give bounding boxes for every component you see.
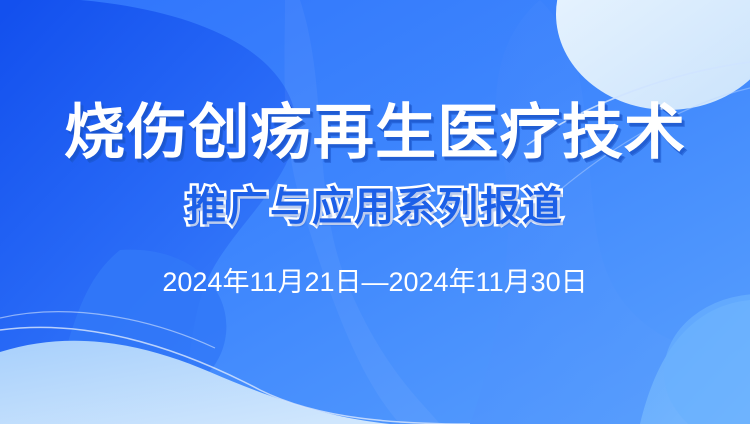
banner-subtitle: 推广与应用系列报道: [186, 187, 564, 227]
promo-banner: 烧伤创疡再生医疗技术 推广与应用系列报道 2024年11月21日—2024年11…: [0, 0, 750, 424]
banner-content: 烧伤创疡再生医疗技术 推广与应用系列报道 2024年11月21日—2024年11…: [0, 0, 750, 424]
banner-title: 烧伤创疡再生医疗技术: [64, 103, 686, 163]
banner-date-range: 2024年11月21日—2024年11月30日: [162, 269, 587, 296]
